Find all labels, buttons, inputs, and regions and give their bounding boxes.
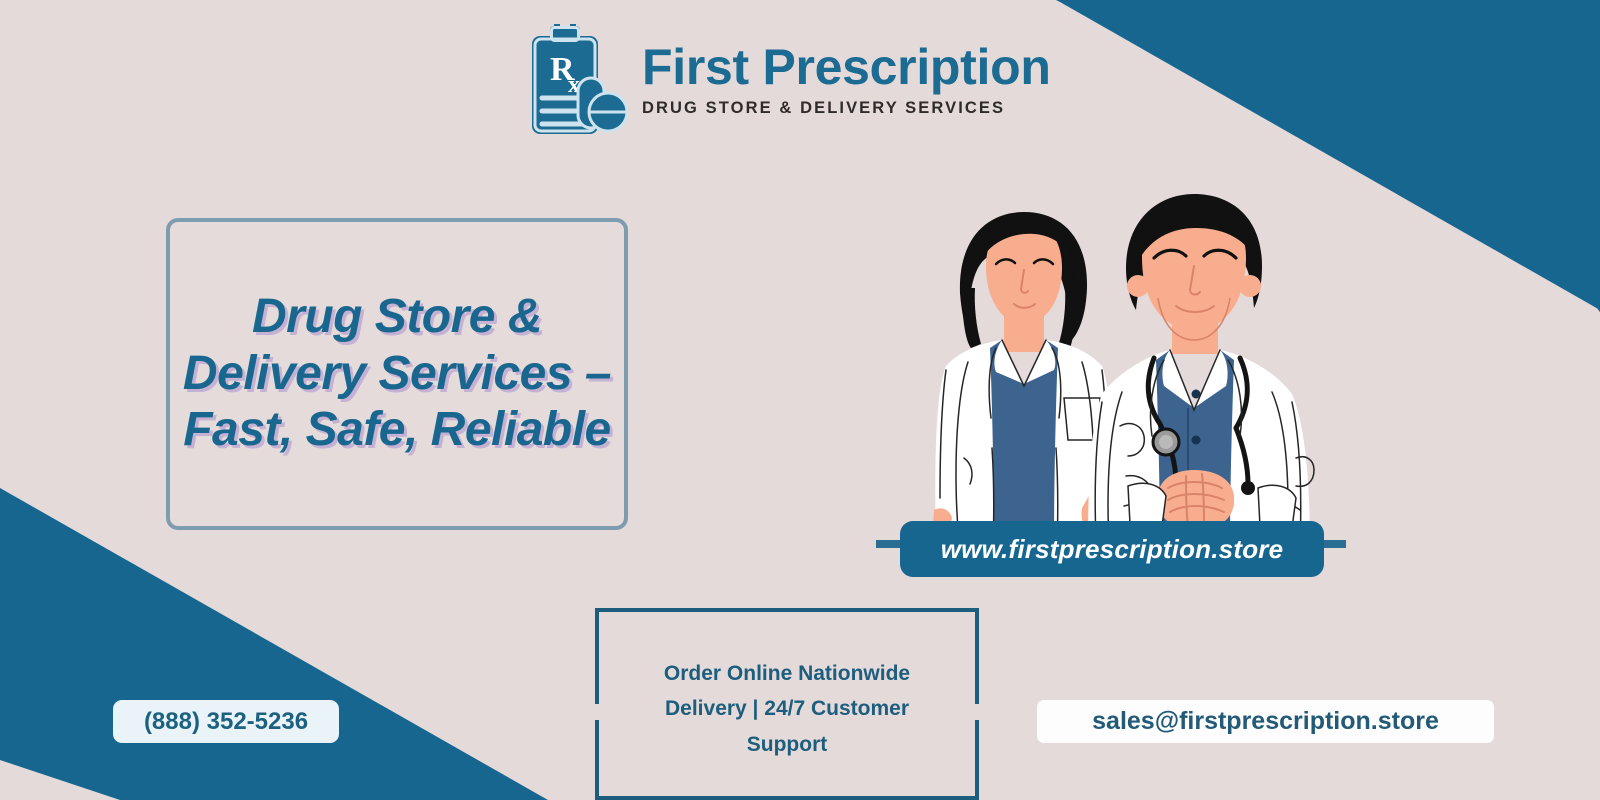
website-url-text: www.firstprescription.store bbox=[941, 534, 1284, 565]
headline-card: Drug Store & Delivery Services – Fast, S… bbox=[166, 218, 628, 530]
phone-number: (888) 352-5236 bbox=[144, 708, 308, 736]
website-url-pill[interactable]: www.firstprescription.store bbox=[900, 521, 1324, 577]
headline-text: Drug Store & Delivery Services – Fast, S… bbox=[170, 289, 624, 459]
rx-clipboard-pills-icon: R x bbox=[524, 24, 628, 136]
promo-banner: R x First Prescription DRUG STORE & DELI… bbox=[0, 0, 1600, 800]
logo-wordmark: First Prescription DRUG STORE & DELIVERY… bbox=[642, 42, 1051, 118]
services-line-2: Delivery | 24/7 Customer bbox=[623, 691, 951, 726]
male-pharmacist bbox=[1088, 194, 1314, 548]
logo-subtitle: DRUG STORE & DELIVERY SERVICES bbox=[642, 99, 1051, 118]
email-address: sales@firstprescription.store bbox=[1092, 707, 1439, 736]
female-pharmacist bbox=[932, 212, 1113, 548]
brand-logo[interactable]: R x First Prescription DRUG STORE & DELI… bbox=[524, 22, 1044, 138]
services-line-1: Order Online Nationwide bbox=[623, 656, 951, 691]
pharmacists-svg bbox=[876, 158, 1346, 548]
logo-title: First Prescription bbox=[642, 42, 1051, 92]
two-pharmacists-illustration bbox=[876, 158, 1346, 548]
services-text: Order Online Nationwide Delivery | 24/7 … bbox=[623, 656, 951, 762]
phone-chip[interactable]: (888) 352-5236 bbox=[113, 700, 339, 743]
services-line-3: Support bbox=[623, 727, 951, 762]
logo-icon-svg: R x bbox=[524, 24, 628, 136]
email-chip[interactable]: sales@firstprescription.store bbox=[1037, 700, 1494, 743]
services-box: Order Online Nationwide Delivery | 24/7 … bbox=[595, 608, 979, 800]
